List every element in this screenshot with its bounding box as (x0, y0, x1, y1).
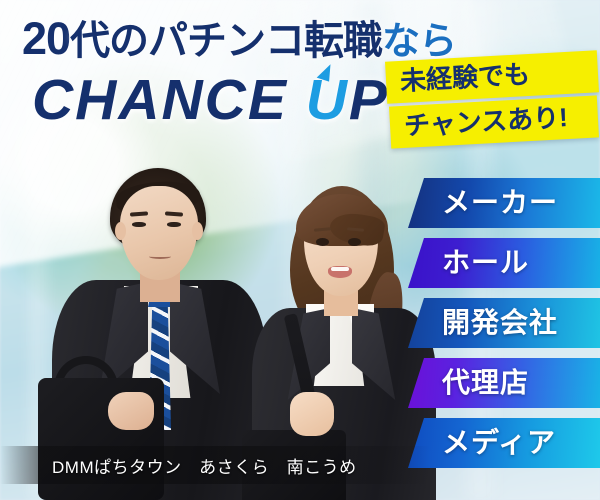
credit-text: DMMぱちタウン あさくら 南こうめ (0, 453, 357, 478)
headline: 20代のパチンコ転職なら (22, 16, 456, 61)
category-bar-maker[interactable]: メーカー (408, 178, 600, 228)
logo-word-chance: CHANCE (32, 68, 288, 132)
job-category-list[interactable]: メーカー ホール 開発会社 代理店 メディア (408, 178, 600, 468)
logo-chance-up: CHANCE U P (32, 72, 389, 129)
male-face (120, 186, 198, 280)
male-ear-right (192, 222, 203, 240)
female-eye-left (316, 238, 329, 246)
category-bar-media[interactable]: メディア (408, 418, 600, 468)
badge-line-1: 未経験でも (385, 50, 599, 103)
female-bangs (296, 194, 388, 246)
category-bar-hall[interactable]: ホール (408, 238, 600, 288)
inexperience-welcome-badge: 未経験でも チャンスあり! (386, 56, 598, 143)
headline-age-number: 20 (22, 13, 70, 64)
female-eye-right (348, 238, 361, 246)
female-hand (290, 392, 334, 436)
category-bar-agency[interactable]: 代理店 (408, 358, 600, 408)
credit-band: DMMぱちタウン あさくら 南こうめ (0, 446, 430, 484)
category-label: ホール (442, 249, 529, 277)
male-eye-left (132, 222, 146, 227)
category-label: 代理店 (442, 369, 529, 397)
badge-line-2: チャンスあり! (389, 95, 599, 148)
logo-letter-p: P (349, 68, 389, 132)
category-label: メーカー (442, 189, 558, 217)
category-label: メディア (442, 429, 556, 457)
category-bar-development-company[interactable]: 開発会社 (408, 298, 600, 348)
recruitment-banner[interactable]: 20代のパチンコ転職なら CHANCE U P 未経験でも チャンスあり! メー… (0, 0, 600, 500)
male-ear-left (115, 222, 126, 240)
headline-main-text: 代のパチンコ転職 (70, 19, 382, 63)
logo-letter-u: U (306, 72, 349, 129)
female-mouth (328, 266, 352, 278)
male-hand (108, 392, 154, 430)
male-mouth (149, 254, 171, 259)
category-label: 開発会社 (442, 309, 558, 337)
male-eye-right (167, 222, 181, 227)
